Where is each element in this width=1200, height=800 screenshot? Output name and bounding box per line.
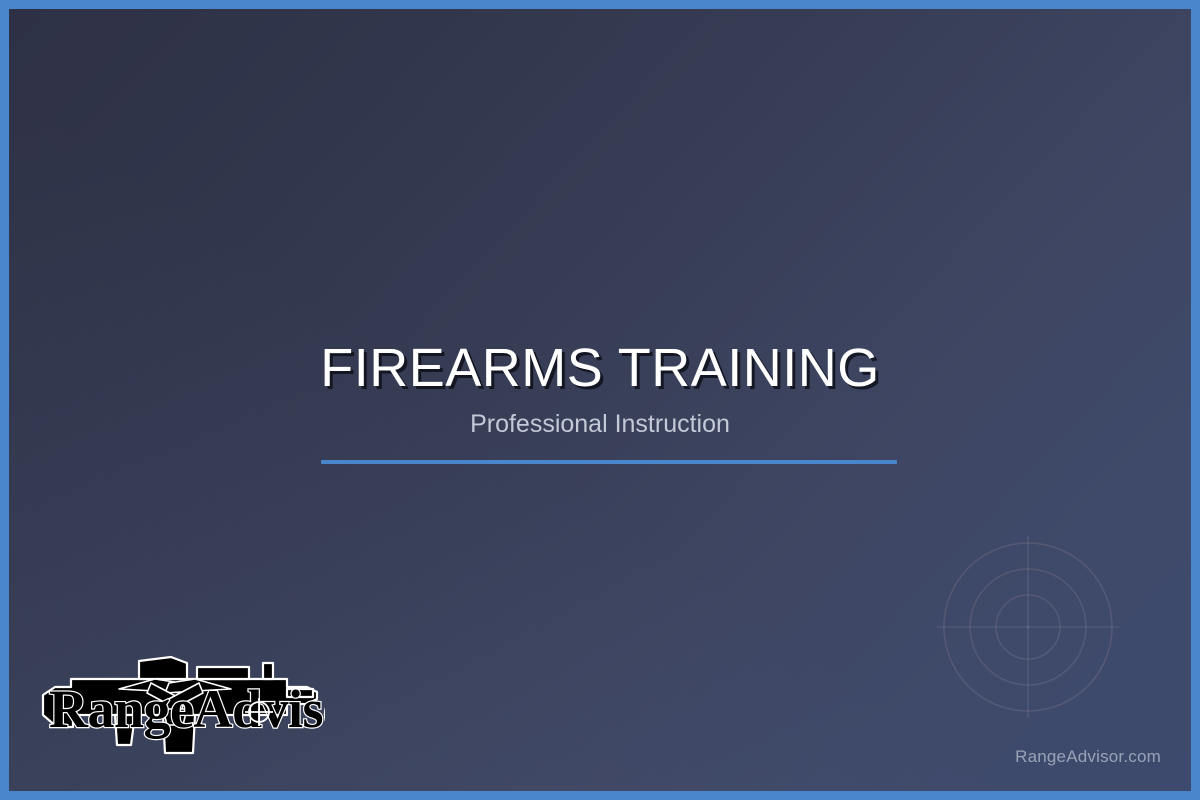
logo-wordmark: RangeAdvisor (49, 679, 325, 739)
footer-website-url: RangeAdvisor.com (1015, 747, 1161, 767)
brand-logo: RangeAdvisor (35, 649, 325, 767)
title-slide: FIREARMS TRAINING Professional Instructi… (0, 0, 1200, 800)
page-subtitle: Professional Instruction (9, 411, 1191, 439)
title-block: FIREARMS TRAINING Professional Instructi… (9, 339, 1191, 439)
crosshair-target-icon (928, 527, 1128, 727)
page-title: FIREARMS TRAINING (9, 339, 1191, 397)
accent-divider (321, 460, 897, 464)
